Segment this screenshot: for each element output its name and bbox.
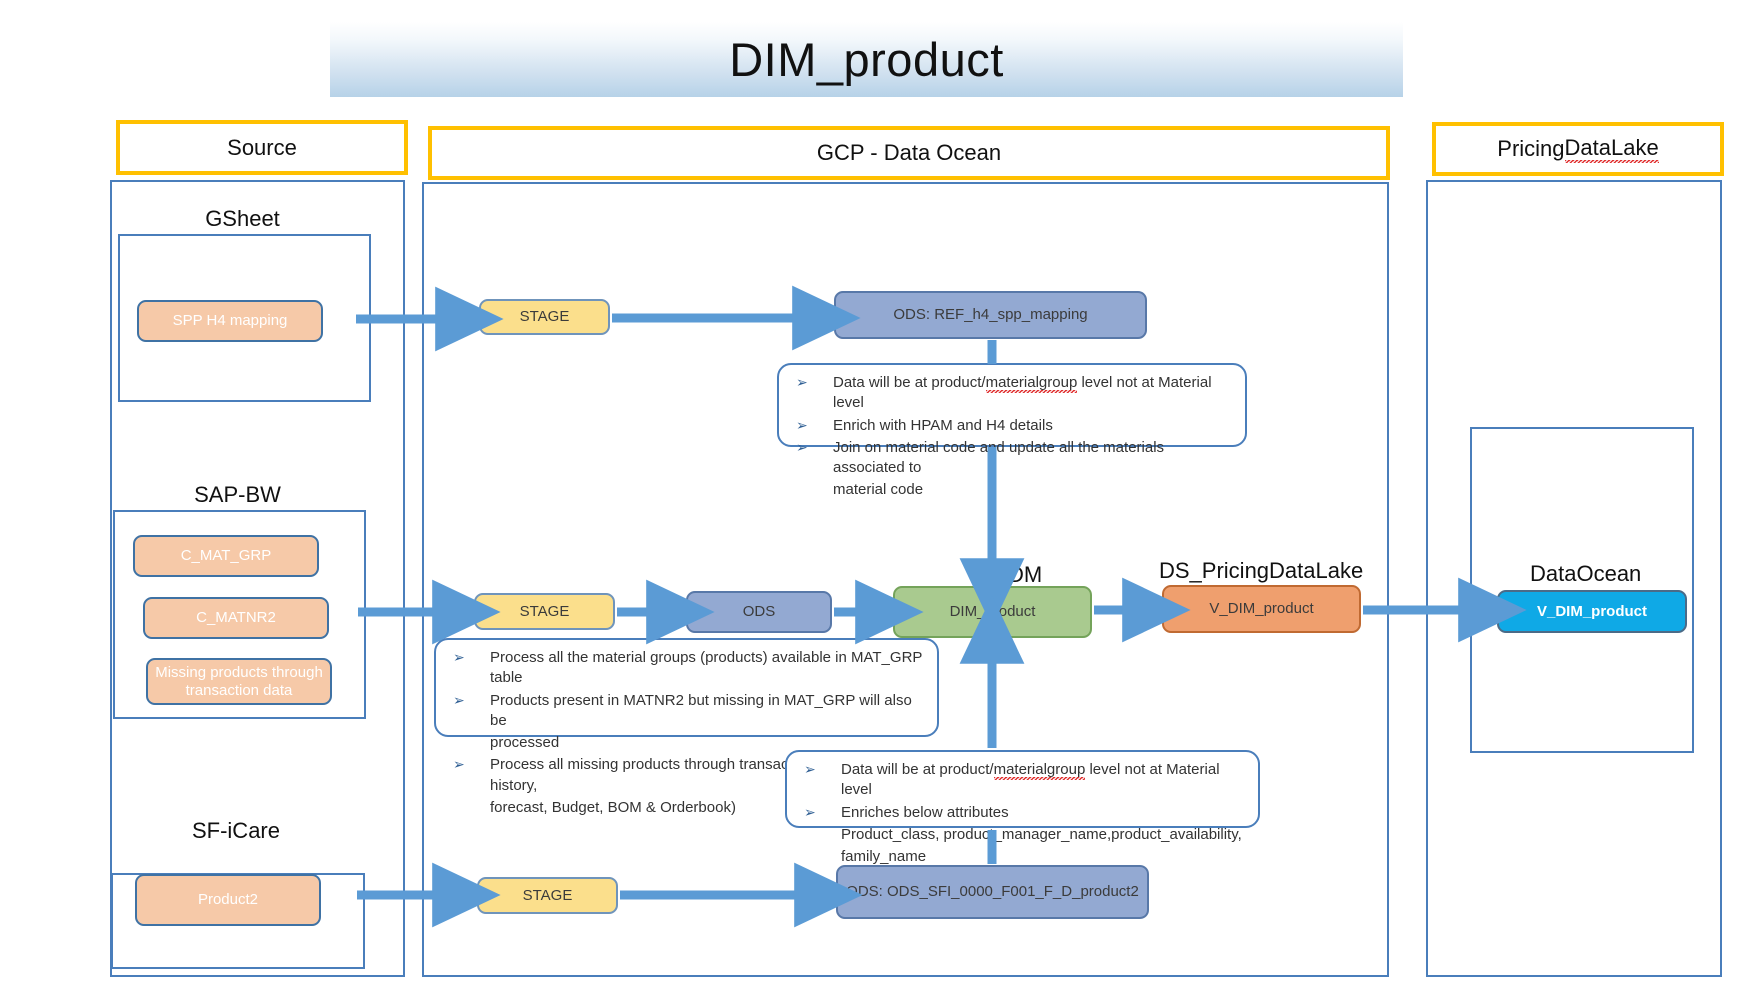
node-dim-product[interactable]: DIM_product [893, 586, 1092, 638]
diagram-canvas: DIM_product Source GCP - Data Ocean Pric… [0, 0, 1759, 981]
zone-header-pricing-prefix: Pricing [1497, 136, 1564, 162]
bullet-arrow-icon: ➢ [796, 373, 808, 392]
label-ds-pricing-datalake: DS_PricingDataLake [1159, 558, 1363, 584]
bullet-arrow-icon: ➢ [804, 803, 816, 822]
zone-header-source: Source [116, 120, 408, 175]
note-item: ➢Enriches below attributes [797, 803, 1246, 823]
note-item: ➢Enrich with HPAM and H4 details [789, 416, 1233, 436]
note-bottom-list: ➢Data will be at product/materialgroup l… [797, 760, 1246, 867]
label-dm: DM [1008, 562, 1042, 588]
note-item: ➢Join on material code and update all th… [789, 438, 1233, 479]
note-text: Products present in MATNR2 but missing i… [490, 692, 912, 729]
note-text: material code [833, 481, 923, 498]
zone-header-source-label: Source [227, 135, 297, 161]
note-text: Data will be at product/ [841, 761, 994, 778]
zone-header-pricing-datalake: Pricing DataLake [1432, 122, 1724, 176]
note-text: Product_class, product_manager_name,prod… [841, 826, 1242, 843]
node-v-dim-product-dataocean[interactable]: V_DIM_product [1497, 590, 1687, 633]
bullet-arrow-icon: ➢ [796, 438, 808, 457]
note-text: Join on material code and update all the… [833, 439, 1164, 476]
bullet-arrow-icon: ➢ [453, 755, 465, 774]
node-c-matnr2[interactable]: C_MATNR2 [143, 597, 329, 639]
node-ods-ref-h4-spp-mapping[interactable]: ODS: REF_h4_spp_mapping [834, 291, 1147, 339]
node-ods-sapbw[interactable]: ODS [686, 591, 832, 633]
note-mid: ➢Process all the material groups (produc… [434, 638, 939, 737]
zone-header-pricing-suffix: DataLake [1565, 135, 1659, 163]
note-text: family_name [841, 848, 926, 865]
bullet-arrow-icon: ➢ [453, 691, 465, 710]
zone-header-gcp-label: GCP - Data Ocean [817, 140, 1001, 166]
source-group-label-sficare: SF-iCare [111, 818, 361, 844]
note-text: processed [490, 734, 559, 751]
note-item: Product_class, product_manager_name,prod… [797, 825, 1246, 845]
note-text: Data will be at product/ [833, 374, 986, 391]
node-missing-products[interactable]: Missing products through transaction dat… [146, 658, 332, 705]
zone-header-gcp: GCP - Data Ocean [428, 126, 1390, 180]
node-stage-sficare[interactable]: STAGE [477, 877, 618, 914]
note-text: Enriches below attributes [841, 804, 1009, 821]
note-text-misspelled: materialgroup [994, 761, 1086, 780]
note-item: ➢Data will be at product/materialgroup l… [789, 373, 1233, 414]
node-ods-sfi-product2[interactable]: ODS: ODS_SFI_0000_F001_F_D_product2 [836, 865, 1149, 919]
source-group-label-sapbw: SAP-BW [113, 482, 362, 508]
page-title: DIM_product [729, 36, 1004, 83]
node-stage-gsheet[interactable]: STAGE [479, 299, 610, 335]
diagram-title-banner: DIM_product [330, 22, 1403, 97]
note-item: ➢Data will be at product/materialgroup l… [797, 760, 1246, 801]
bullet-arrow-icon: ➢ [796, 416, 808, 435]
note-item: ➢Process all the material groups (produc… [446, 648, 925, 689]
bullet-arrow-icon: ➢ [804, 760, 816, 779]
node-c-mat-grp[interactable]: C_MAT_GRP [133, 535, 319, 577]
note-top: ➢Data will be at product/materialgroup l… [777, 363, 1247, 447]
note-text: forecast, Budget, BOM & Orderbook) [490, 799, 736, 816]
node-stage-sapbw[interactable]: STAGE [474, 593, 615, 630]
node-product2[interactable]: Product2 [135, 874, 321, 926]
note-text-misspelled: materialgroup [986, 374, 1078, 393]
label-dataocean: DataOcean [1530, 561, 1641, 587]
source-group-label-gsheet: GSheet [118, 206, 367, 232]
bullet-arrow-icon: ➢ [453, 648, 465, 667]
note-item: family_name [797, 847, 1246, 867]
note-top-list: ➢Data will be at product/materialgroup l… [789, 373, 1233, 501]
note-item: material code [789, 480, 1233, 500]
node-v-dim-product-lake[interactable]: V_DIM_product [1162, 585, 1361, 633]
note-bottom: ➢Data will be at product/materialgroup l… [785, 750, 1260, 828]
note-text: Enrich with HPAM and H4 details [833, 417, 1053, 434]
node-spp-h4-mapping[interactable]: SPP H4 mapping [137, 300, 323, 342]
note-item: ➢Products present in MATNR2 but missing … [446, 691, 925, 732]
note-text: Process all the material groups (product… [490, 649, 922, 686]
